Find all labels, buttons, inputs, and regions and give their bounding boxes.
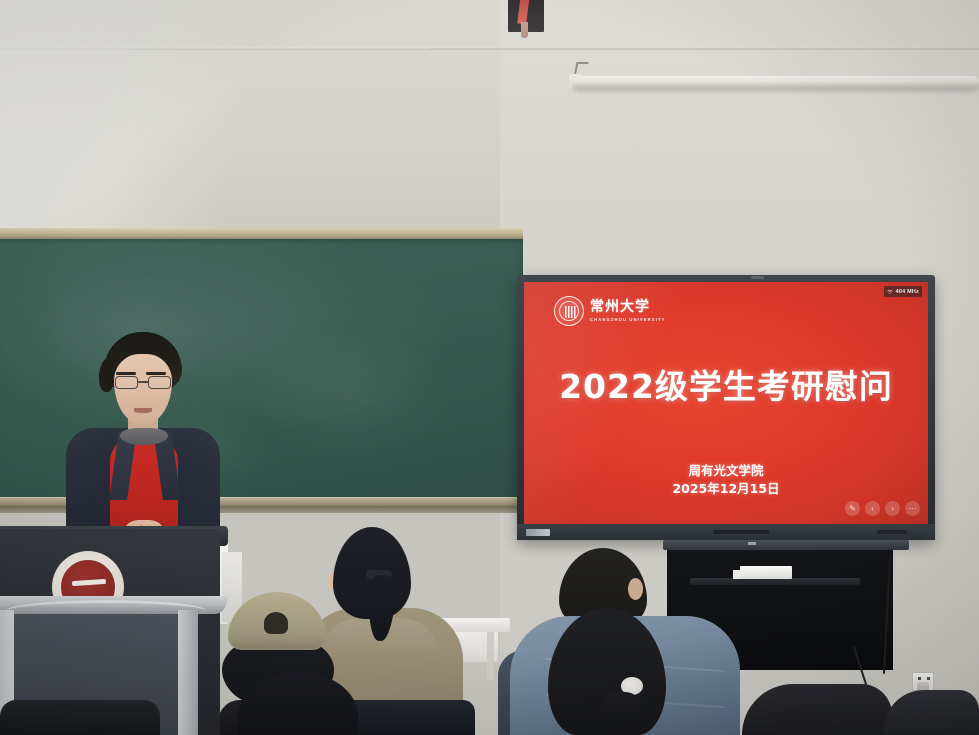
wifi-icon — [887, 289, 893, 295]
lectern-right-edge — [178, 610, 198, 735]
display-bottom-bezel — [517, 524, 935, 540]
display-brand-plate — [526, 529, 550, 536]
seal-inner-mark — [564, 306, 576, 318]
media-cabinet-top — [663, 540, 909, 550]
previous-slide-button[interactable]: ‹ — [865, 501, 880, 516]
logo-name-cn: 常州大学 — [590, 300, 666, 314]
presenter-eyebrow-left — [116, 372, 136, 375]
slide-subtitle-line2: 2025年12月15日 — [524, 480, 928, 498]
presenter-mouth — [134, 408, 152, 413]
lens-left — [115, 376, 138, 389]
chalkboard-smudge — [246, 329, 456, 459]
chalkboard-top-frame — [0, 228, 523, 239]
lens-right — [148, 376, 171, 389]
next-slide-button[interactable]: › — [885, 501, 900, 516]
mount-stem — [521, 22, 528, 38]
chair-bottom-left — [0, 700, 160, 735]
student-desk-center-leg — [487, 632, 494, 680]
wall-seam-line-secondary — [430, 48, 979, 50]
media-cabinet-shelf — [690, 578, 860, 585]
power-outlet — [912, 672, 934, 691]
cap-ponytail-hole — [264, 612, 288, 634]
interactive-smart-display[interactable]: 常州大学 CHANGZHOU UNIVERSITY 404 MHz 2022级学… — [517, 275, 935, 540]
logo-name-en: CHANGZHOU UNIVERSITY — [590, 317, 666, 322]
slide-subtitle-line1: 周有光文学院 — [524, 462, 928, 480]
display-indicator-led — [751, 276, 764, 279]
slide-university-logo: 常州大学 CHANGZHOU UNIVERSITY — [554, 296, 666, 326]
cap-band — [231, 636, 323, 648]
ceiling-projector-mount-icon — [508, 0, 544, 32]
presenter-inner-collar — [120, 428, 168, 445]
annotate-pen-button[interactable]: ✎ — [845, 501, 860, 516]
slide-subtitle: 周有光文学院 2025年12月15日 — [524, 462, 928, 498]
status-badge: 404 MHz — [884, 286, 922, 297]
ponytail-lower — [600, 692, 642, 735]
display-sensor — [877, 530, 907, 534]
presenter-face — [114, 354, 172, 424]
display-screen[interactable]: 常州大学 CHANGZHOU UNIVERSITY 404 MHz 2022级学… — [524, 282, 928, 524]
presenter-at-lectern — [62, 332, 222, 547]
classroom-photo-scene: 常州大学 CHANGZHOU UNIVERSITY 404 MHz 2022级学… — [0, 0, 979, 735]
screen-control-bar[interactable]: ✎ ‹ › ⋯ — [845, 501, 920, 516]
presenter-eyebrow-right — [146, 372, 166, 375]
cabinet-led — [748, 542, 756, 545]
glasses-bridge — [138, 381, 148, 383]
retractable-projection-screen — [573, 76, 979, 89]
status-badge-text: 404 MHz — [896, 289, 919, 295]
more-options-button[interactable]: ⋯ — [905, 501, 920, 516]
display-ir-sensor-bar — [713, 530, 769, 534]
eyeglasses-icon — [112, 376, 174, 389]
audience-ear — [628, 578, 643, 600]
shelf-item-white-box — [740, 566, 792, 579]
audience-member-right-dark — [742, 684, 892, 735]
university-seal-icon — [554, 296, 584, 326]
slide-title: 2022级学生考研慰问 — [524, 360, 928, 408]
mount-red-stripe — [517, 0, 530, 24]
